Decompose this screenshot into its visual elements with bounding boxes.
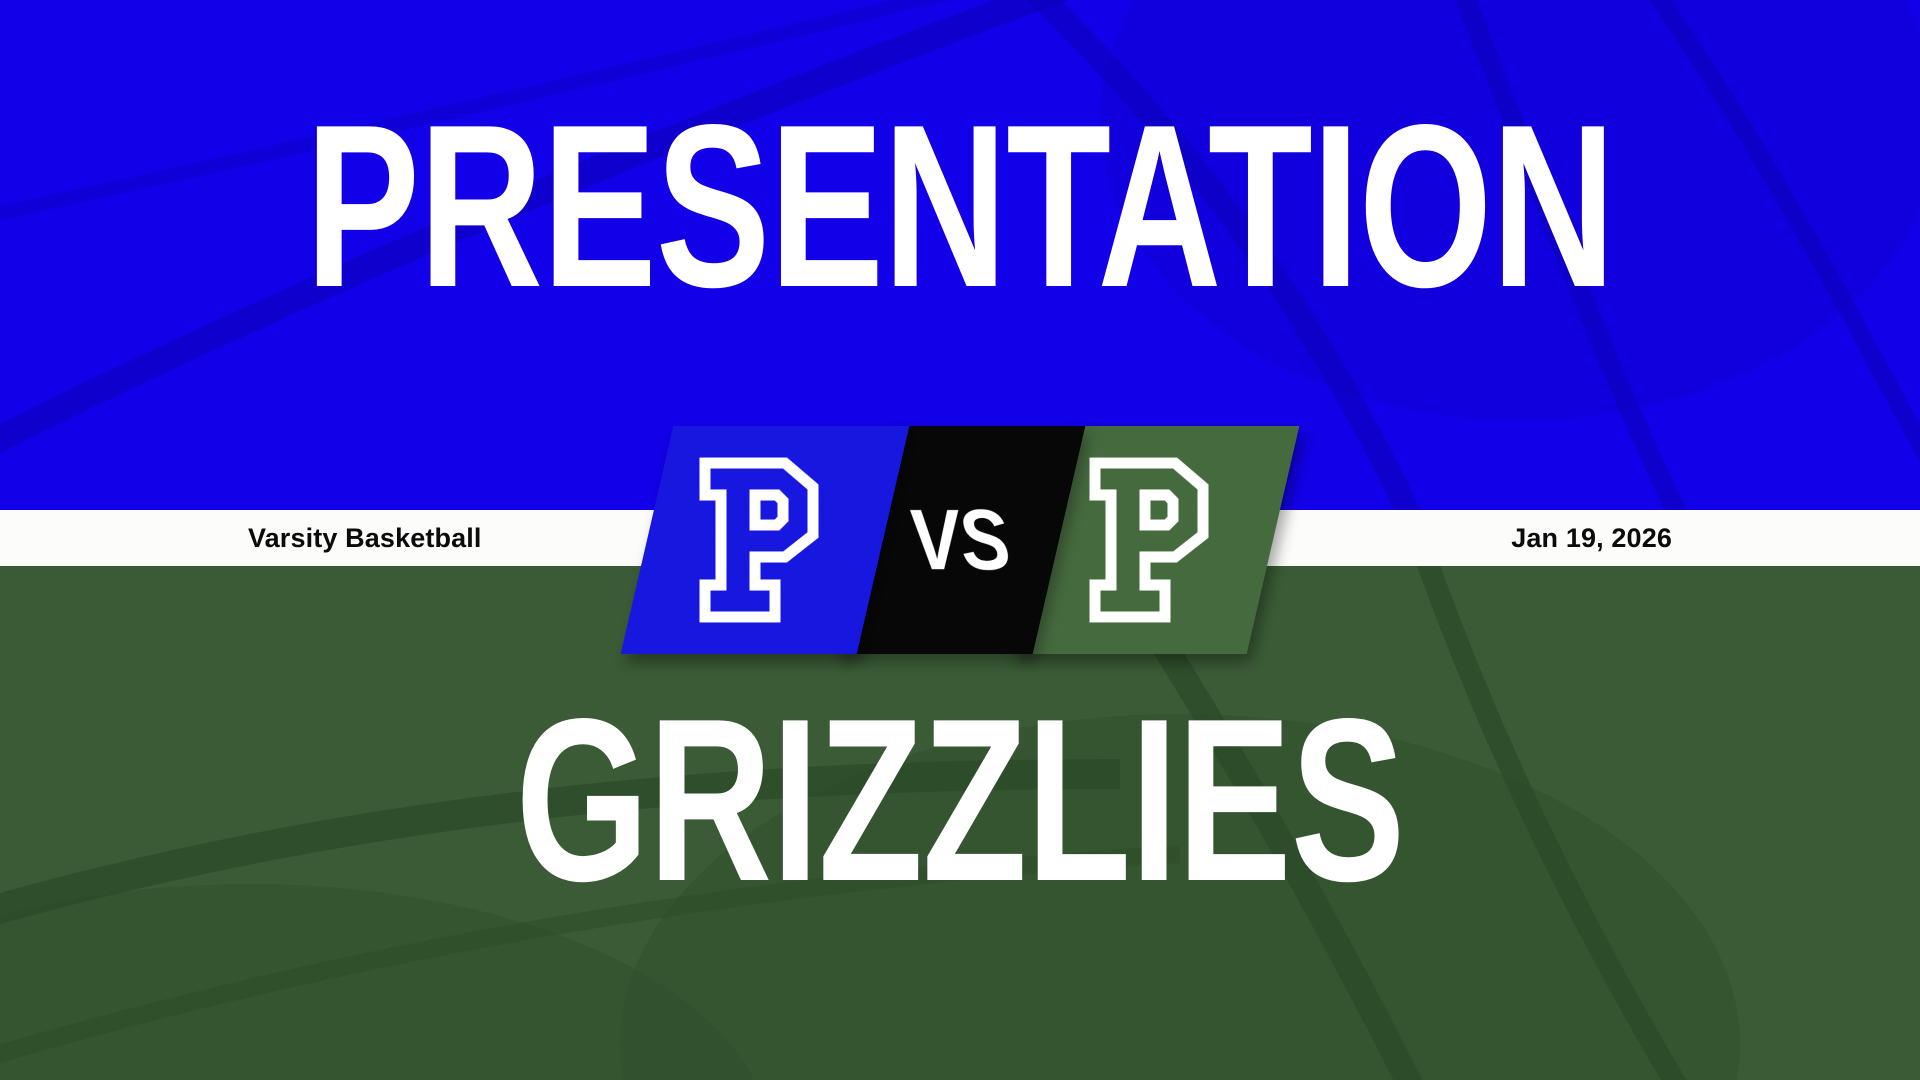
home-team-tile[interactable] [621, 426, 910, 654]
home-team-tile-inner [647, 426, 883, 654]
away-varsity-p-monogram [1089, 457, 1221, 623]
page-title-primary: PRESENTATION [250, 112, 1671, 302]
slide-canvas: PRESENTATION GRIZZLIES Varsity Basketbal… [0, 0, 1920, 1080]
home-varsity-p-monogram [699, 457, 831, 623]
page-title-secondary: GRIZZLIES [250, 706, 1671, 896]
date-label: Jan 19, 2026 [1511, 523, 1672, 554]
matchup-logo-cluster: VS [647, 426, 1273, 654]
versus-label: VS [901, 497, 1018, 583]
sport-label: Varsity Basketball [248, 523, 482, 554]
